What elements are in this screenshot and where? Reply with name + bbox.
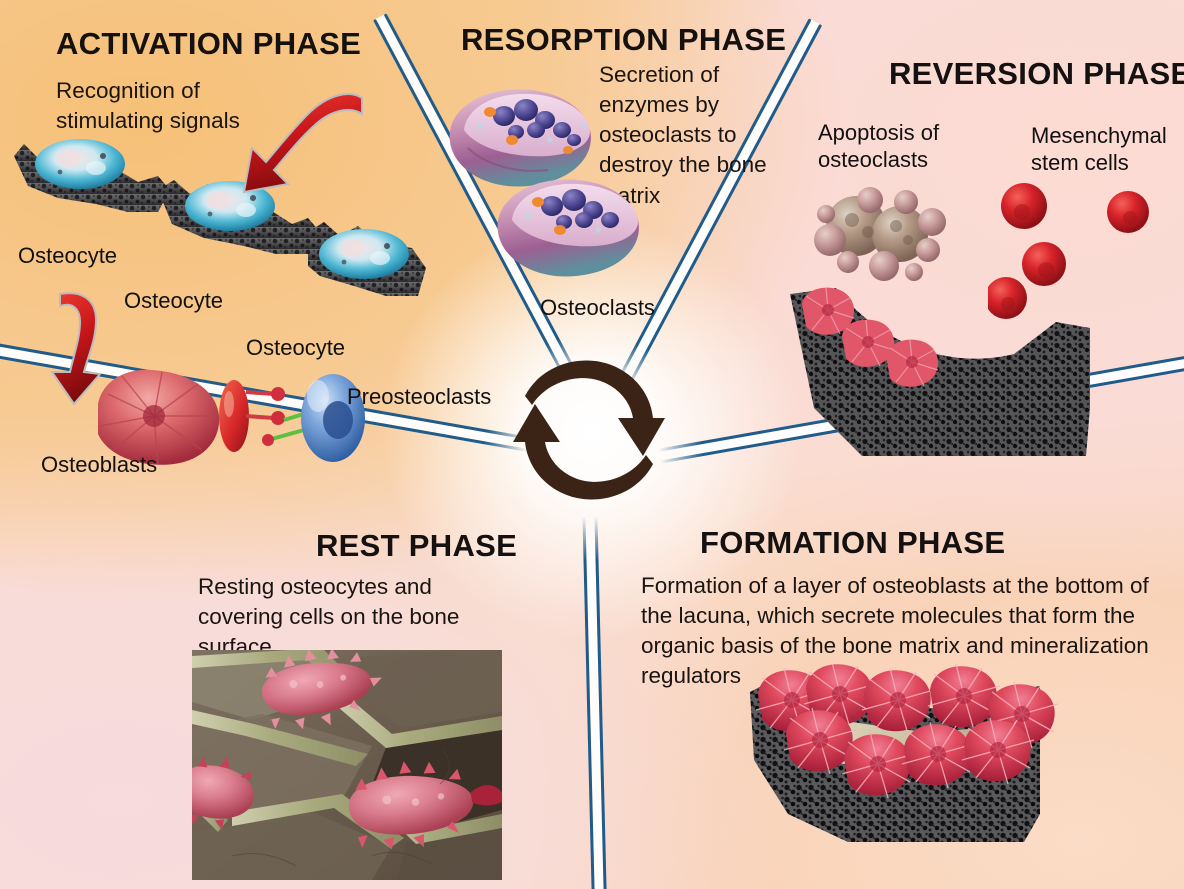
- label-preosteoclasts: Preosteoclasts: [347, 384, 491, 410]
- rest-phase-micrograph: [192, 650, 502, 880]
- rest-title: REST PHASE: [316, 530, 517, 562]
- label-apoptosis-of-osteoclasts: Apoptosis of osteoclasts: [818, 120, 958, 174]
- rest-body: Resting osteocytes and covering cells on…: [198, 572, 508, 662]
- label-osteocyte-3: Osteocyte: [246, 335, 345, 361]
- reversion-bone-lacuna-art: [790, 258, 1120, 473]
- label-mesenchymal-stem-cells: Mesenchymal stem cells: [1031, 123, 1173, 177]
- preosteoclast-cell-art: [288, 368, 378, 468]
- phase-formation: FORMATION PHASE Formation of a layer of …: [0, 0, 560, 180]
- formation-bone-osteoblasts-art: [748, 664, 1108, 879]
- formation-title: FORMATION PHASE: [700, 527, 1005, 559]
- label-osteoblasts: Osteoblasts: [41, 452, 157, 478]
- divider-formation-rest: [597, 498, 607, 889]
- reversion-title: REVERSION PHASE: [889, 58, 1184, 90]
- label-osteoclasts: Osteoclasts: [540, 295, 655, 321]
- bone-remodeling-diagram: ACTIVATION PHASE Recognition of stimulat…: [0, 0, 1184, 889]
- cycle-arrows-icon: [487, 352, 692, 512]
